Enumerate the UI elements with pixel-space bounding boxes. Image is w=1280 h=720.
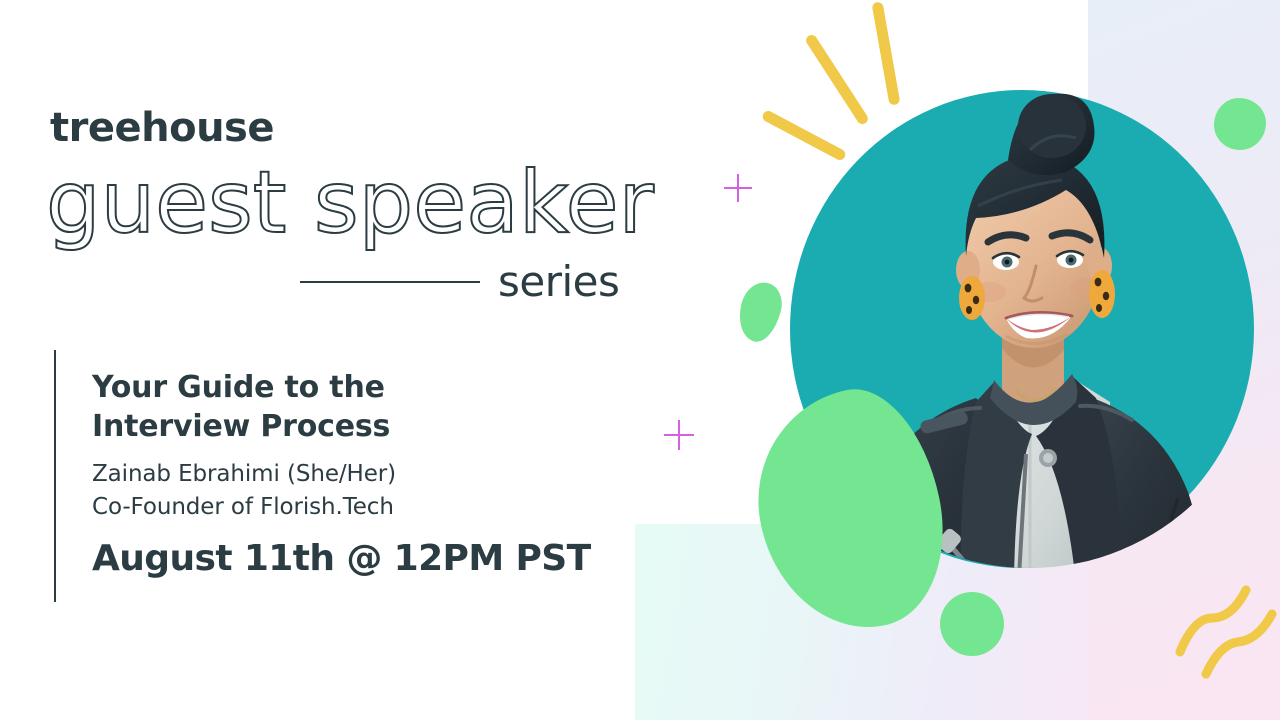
headline-outline: guest speaker — [46, 160, 654, 246]
speaker-role: Co-Founder of Florish.Tech — [92, 491, 632, 524]
plus-upper — [724, 174, 752, 202]
plus-lower — [664, 420, 694, 450]
brand-name: treehouse — [50, 108, 274, 148]
speaker-name: Zainab Ebrahimi (She/Her) — [92, 458, 632, 491]
squiggle-lower — [1206, 614, 1272, 674]
squiggle-group — [1150, 570, 1280, 700]
series-divider-rule — [300, 281, 480, 283]
detail-accent-bar — [54, 350, 56, 602]
talk-title: Your Guide to the Interview Process — [92, 368, 632, 446]
event-details: Your Guide to the Interview Process Zain… — [92, 368, 632, 579]
event-datetime: August 11th @ 12PM PST — [92, 539, 632, 579]
promo-banner: treehouse guest speaker series Your Guid… — [0, 0, 1280, 720]
text-column: treehouse guest speaker series Your Guid… — [0, 0, 660, 720]
series-label: series — [498, 261, 619, 303]
series-row: series — [300, 254, 630, 310]
green-pill-small — [733, 278, 786, 346]
green-circle-bottom — [940, 592, 1004, 656]
